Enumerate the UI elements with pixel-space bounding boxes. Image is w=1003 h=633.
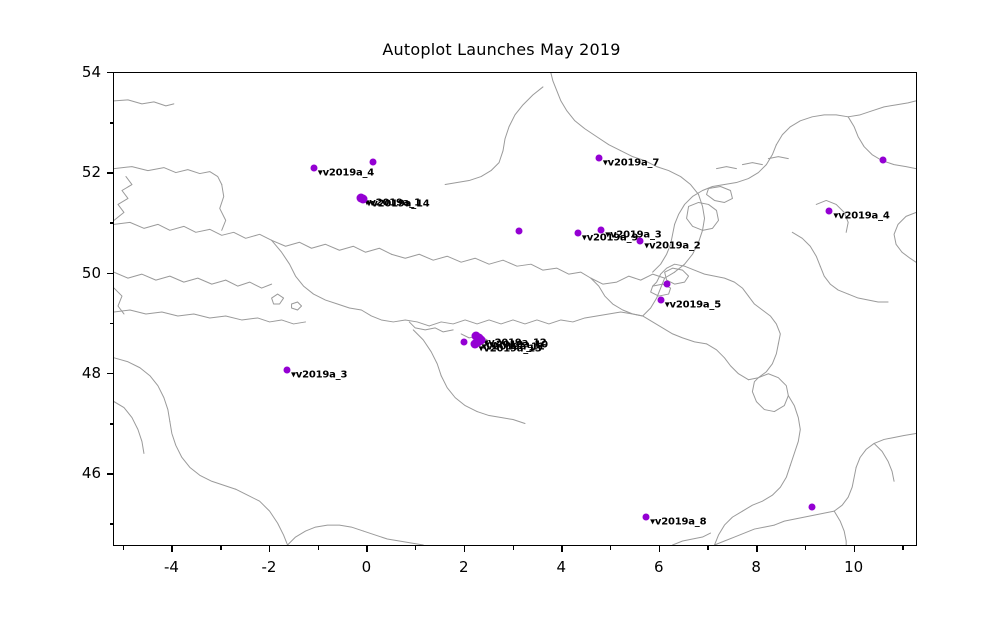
point-label: ▾v2019a_4	[833, 210, 889, 221]
y-tick-major	[107, 373, 113, 374]
x-tick-minor	[415, 546, 416, 550]
y-tick-label: 48	[55, 364, 101, 382]
scatter-point[interactable]	[826, 207, 833, 214]
point-label: ▾v2019a_8	[650, 516, 706, 527]
x-tick-major	[269, 546, 270, 552]
y-tick-minor	[110, 222, 114, 223]
y-tick-label: 46	[55, 464, 101, 482]
scatter-point[interactable]	[460, 339, 467, 346]
point-label: ▾v2019a_13	[479, 343, 542, 354]
x-tick-label: 4	[531, 558, 591, 576]
x-tick-major	[171, 546, 172, 552]
x-tick-major	[659, 546, 660, 552]
x-tick-label: 10	[824, 558, 884, 576]
y-tick-major	[107, 72, 113, 73]
scatter-point[interactable]	[663, 280, 670, 287]
map-axes[interactable]: ▾v2019a_4▾v2019a_1▾v2019a_14▾v2019a_7▾v2…	[113, 72, 917, 546]
y-tick-label: 50	[55, 264, 101, 282]
point-label: ▾v2019a_14	[367, 198, 430, 209]
x-tick-minor	[610, 546, 611, 550]
x-tick-major	[756, 546, 757, 552]
y-tick-major	[107, 172, 113, 173]
scatter-point[interactable]	[808, 503, 815, 510]
x-tick-minor	[707, 546, 708, 550]
x-tick-minor	[513, 546, 514, 550]
x-tick-label: 2	[434, 558, 494, 576]
y-tick-label: 54	[55, 63, 101, 81]
page-title: Autoplot Launches May 2019	[0, 40, 1003, 59]
x-tick-minor	[902, 546, 903, 550]
x-tick-label: -2	[239, 558, 299, 576]
x-tick-major	[854, 546, 855, 552]
point-label: ▾v2019a_7	[603, 158, 659, 169]
point-label: ▾v2019a_3	[605, 230, 661, 241]
scatter-point[interactable]	[595, 155, 602, 162]
point-label: ▾v2019a_5	[665, 299, 721, 310]
x-tick-minor	[123, 546, 124, 550]
scatter-point[interactable]	[370, 159, 377, 166]
point-label: ▾v2019a_2	[644, 241, 700, 252]
scatter-point[interactable]	[598, 227, 605, 234]
y-tick-minor	[110, 523, 114, 524]
y-tick-minor	[110, 423, 114, 424]
scatter-point[interactable]	[643, 513, 650, 520]
x-tick-minor	[318, 546, 319, 550]
x-tick-label: -4	[141, 558, 201, 576]
y-tick-label: 52	[55, 163, 101, 181]
figure-canvas: Autoplot Launches May 2019	[0, 0, 1003, 633]
x-tick-minor	[805, 546, 806, 550]
y-tick-minor	[110, 122, 114, 123]
map-geography	[114, 73, 916, 545]
x-tick-label: 0	[336, 558, 396, 576]
y-tick-major	[107, 273, 113, 274]
point-label: ▾v2019a_3	[291, 369, 347, 380]
x-tick-major	[464, 546, 465, 552]
scatter-point[interactable]	[879, 156, 886, 163]
scatter-point[interactable]	[657, 296, 664, 303]
scatter-point[interactable]	[283, 366, 290, 373]
x-tick-major	[561, 546, 562, 552]
scatter-point[interactable]	[516, 228, 523, 235]
x-tick-minor	[220, 546, 221, 550]
point-label: ▾v2019a_4	[318, 168, 374, 179]
y-tick-minor	[110, 323, 114, 324]
y-tick-major	[107, 473, 113, 474]
x-tick-label: 6	[629, 558, 689, 576]
scatter-point[interactable]	[637, 238, 644, 245]
x-tick-major	[366, 546, 367, 552]
scatter-point[interactable]	[574, 229, 581, 236]
x-tick-label: 8	[726, 558, 786, 576]
scatter-point[interactable]	[310, 165, 317, 172]
